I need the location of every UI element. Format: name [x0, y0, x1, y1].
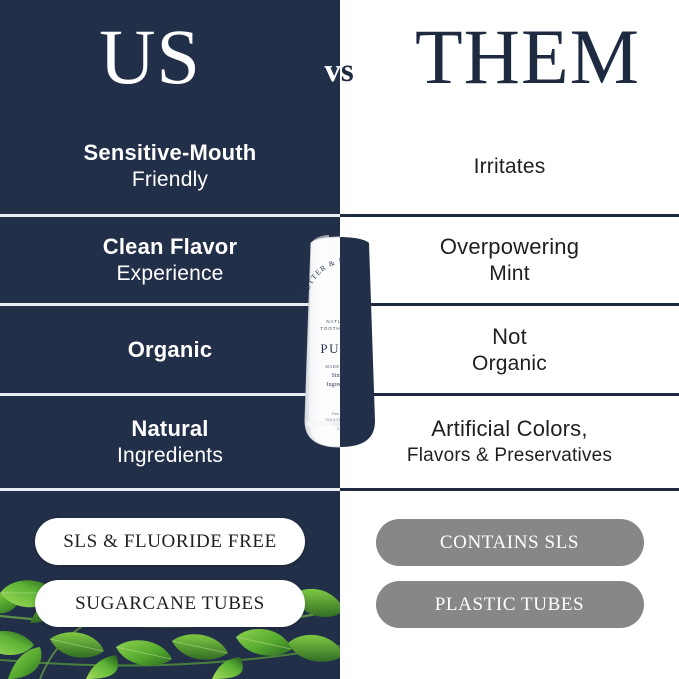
- badge-sls-fluoride-free[interactable]: SLS & FLUORIDE FREE: [35, 518, 305, 565]
- vs-letter-v: v: [324, 53, 341, 89]
- row-2-us-line-1: Clean Flavor: [103, 233, 237, 260]
- row-4-us-line-1: Natural: [131, 415, 208, 442]
- us-badge-1-wrapper: SLS & FLUORIDE FREE: [0, 518, 340, 565]
- row-3-them-line-2: Organic: [472, 350, 547, 377]
- row-2-them-line-2: Mint: [489, 260, 529, 287]
- row-3-us-line-1: Organic: [128, 336, 213, 363]
- badge-contains-sls[interactable]: CONTAINS SLS: [376, 519, 644, 566]
- row-separator-4: [0, 488, 679, 491]
- table-row: Natural Ingredients Artificial Colors, F…: [0, 396, 679, 488]
- row-2-us-line-2: Experience: [116, 260, 223, 287]
- row-2-them-cell: Overpowering Mint: [340, 217, 679, 303]
- table-row: Sensitive-Mouth Friendly Irritates: [0, 118, 679, 214]
- row-4-them-line-1: Artificial Colors,: [431, 415, 587, 442]
- vs-letter-s: s: [341, 53, 354, 89]
- row-4-them-line-2: Flavors & Preservatives: [407, 442, 612, 469]
- row-3-them-cell: Not Organic: [340, 306, 679, 393]
- row-1-us-cell: Sensitive-Mouth Friendly: [0, 118, 340, 214]
- row-1-us-line-2: Friendly: [132, 166, 208, 193]
- them-badge-1-wrapper: CONTAINS SLS: [340, 519, 679, 566]
- table-row: Clean Flavor Experience Overpowering Min…: [0, 217, 679, 303]
- badges-section: SLS & FLUORIDE FREE SUGARCANE TUBES CONT…: [0, 492, 679, 679]
- row-2-them-line-1: Overpowering: [440, 233, 579, 260]
- header: US vs THEM: [0, 0, 679, 118]
- row-3-them-line-1: Not: [492, 323, 527, 350]
- row-1-us-line-1: Sensitive-Mouth: [84, 139, 257, 166]
- row-4-us-line-2: Ingredients: [117, 442, 223, 469]
- row-2-us-cell: Clean Flavor Experience: [0, 217, 340, 303]
- row-4-them-cell: Artificial Colors, Flavors & Preservativ…: [340, 396, 679, 488]
- header-them-title: THEM: [376, 16, 679, 98]
- badge-sugarcane-tubes[interactable]: SUGARCANE TUBES: [35, 580, 305, 627]
- row-3-us-cell: Organic: [0, 306, 340, 393]
- them-badge-2-wrapper: PLASTIC TUBES: [340, 581, 679, 628]
- row-1-them-line-1: Irritates: [474, 153, 546, 180]
- header-us-title: US: [0, 16, 300, 98]
- table-row: Organic Not Organic: [0, 306, 679, 393]
- us-badge-2-wrapper: SUGARCANE TUBES: [0, 580, 340, 627]
- header-vs-label: vs: [300, 54, 378, 88]
- row-1-them-cell: Irritates: [340, 118, 679, 214]
- row-4-us-cell: Natural Ingredients: [0, 396, 340, 488]
- comparison-infographic: US vs THEM Sensitive-Mouth Friendly Irri…: [0, 0, 679, 679]
- badge-plastic-tubes[interactable]: PLASTIC TUBES: [376, 581, 644, 628]
- comparison-rows: Sensitive-Mouth Friendly Irritates Clean…: [0, 118, 679, 489]
